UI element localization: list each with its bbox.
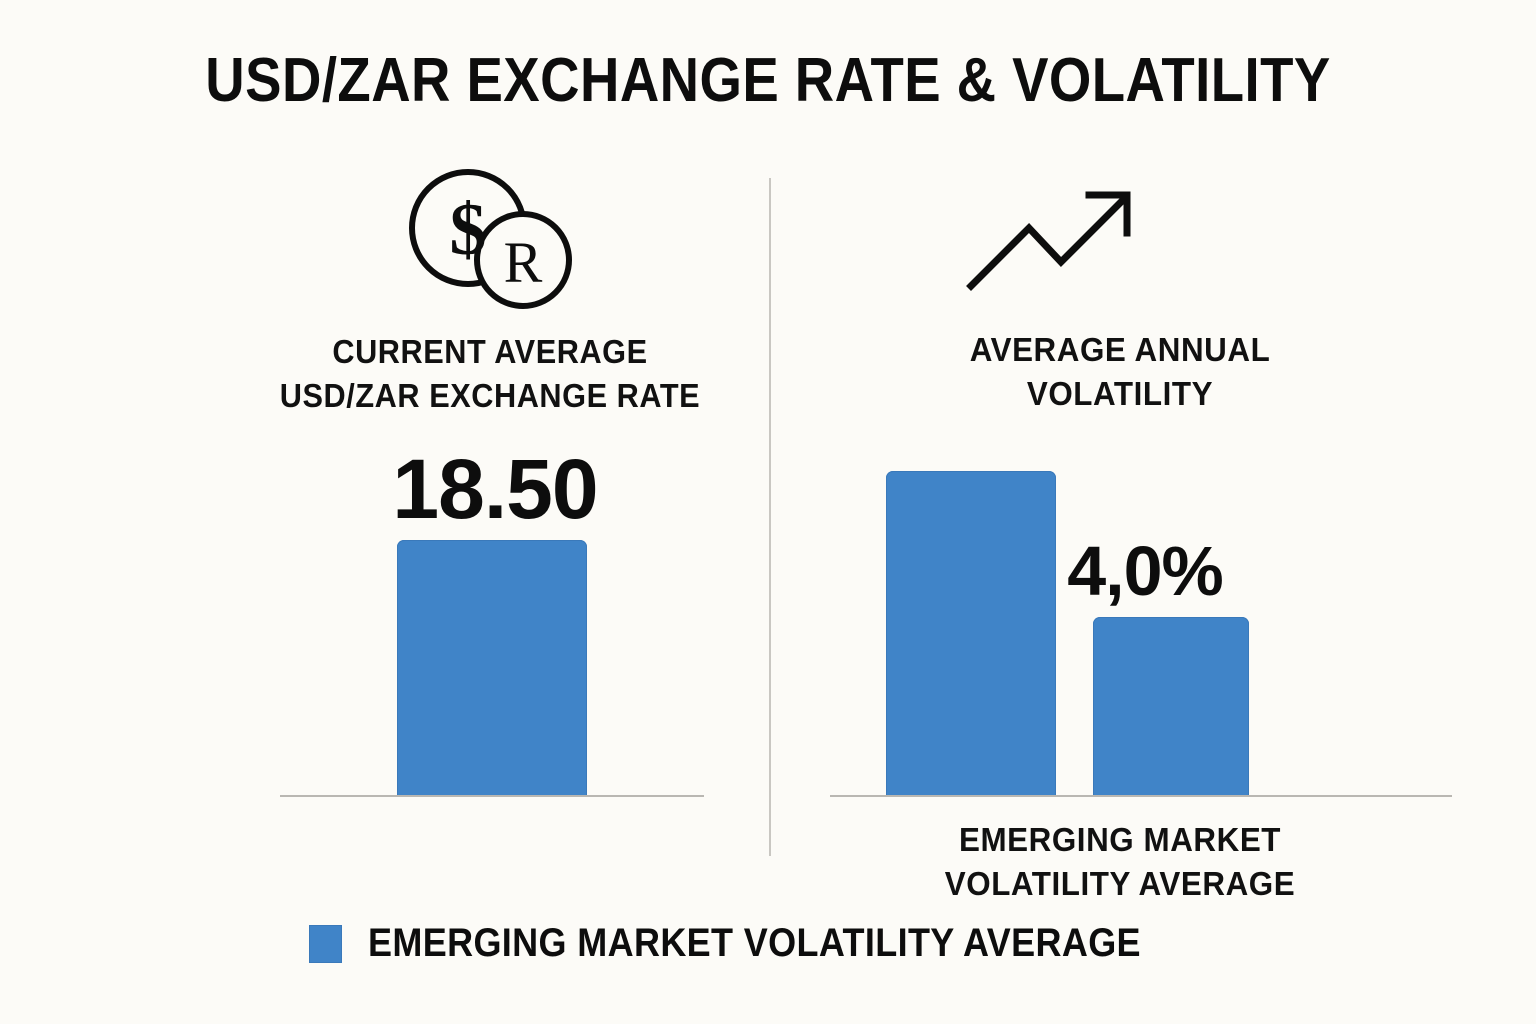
exchange-rate-value: 18.50	[270, 447, 720, 531]
bar-exchange-rate	[397, 540, 587, 796]
bar-average-annual-volatility	[1093, 617, 1249, 796]
panel-volatility: AVERAGE ANNUAL VOLATILITY 4,0% EMERGING …	[770, 0, 1536, 1024]
svg-text:$: $	[450, 189, 487, 271]
exchange-rate-heading: CURRENT AVERAGE USD/ZAR EXCHANGE RATE	[127, 330, 852, 418]
legend-swatch-emerging-market	[309, 925, 342, 963]
exchange-rate-heading-line1: CURRENT AVERAGE	[127, 330, 852, 374]
panel-exchange-rate: $ R CURRENT AVERAGE USD/ZAR EXCHANGE RAT…	[0, 0, 770, 1024]
baseline-right	[830, 795, 1452, 797]
volatility-heading-line1: AVERAGE ANNUAL	[807, 328, 1434, 372]
chart-legend: EMERGING MARKET VOLATILITY AVERAGE	[0, 921, 1536, 966]
svg-text:R: R	[504, 230, 543, 295]
exchange-rate-heading-line2: USD/ZAR EXCHANGE RATE	[127, 374, 852, 418]
volatility-heading: AVERAGE ANNUAL VOLATILITY	[807, 328, 1434, 416]
volatility-caption-line1: EMERGING MARKET	[807, 818, 1434, 862]
legend-label-emerging-market: EMERGING MARKET VOLATILITY AVERAGE	[368, 921, 1141, 966]
bar-emerging-market-volatility	[886, 471, 1056, 796]
volatility-heading-line2: VOLATILITY	[807, 372, 1434, 416]
volatility-value: 4,0%	[1020, 536, 1270, 606]
dollar-rand-currency-icon: $ R	[404, 166, 574, 311]
volatility-caption-line2: VOLATILITY AVERAGE	[807, 862, 1434, 906]
infographic-root: USD/ZAR EXCHANGE RATE & VOLATILITY $ R C…	[0, 0, 1536, 1024]
trending-up-arrow-icon	[965, 182, 1145, 292]
volatility-caption: EMERGING MARKET VOLATILITY AVERAGE	[807, 818, 1434, 906]
baseline-left	[280, 795, 704, 797]
